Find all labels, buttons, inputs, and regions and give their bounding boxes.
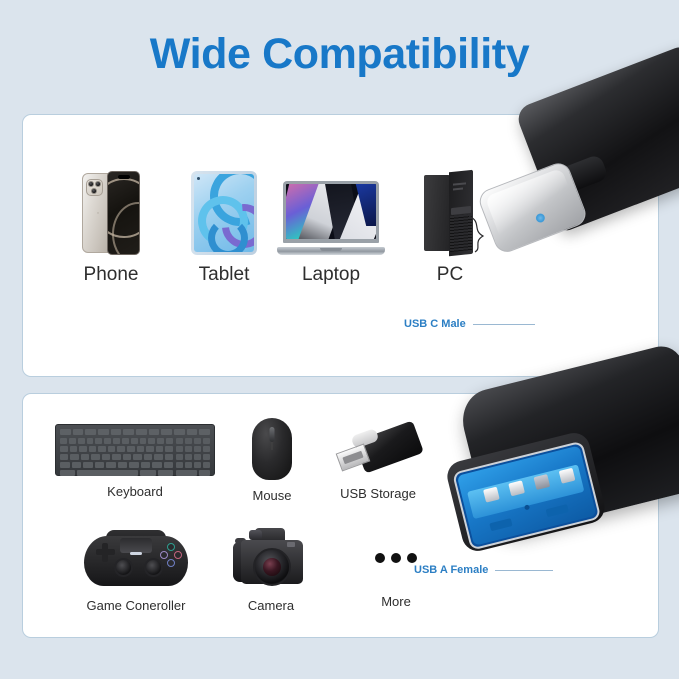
camera-icon	[233, 526, 309, 590]
device-usb-storage: USB Storage	[323, 422, 433, 501]
device-label: Camera	[211, 598, 331, 613]
laptop-icon	[277, 181, 385, 255]
device-phone: Phone	[51, 171, 171, 286]
device-label: Keyboard	[45, 484, 225, 499]
device-keyboard: Keyboard	[45, 424, 225, 499]
device-label: USB Storage	[323, 486, 433, 501]
callout-label: USB A Female	[414, 564, 488, 576]
leader-line	[473, 324, 535, 325]
power-cable-icon	[468, 215, 488, 253]
leader-line	[495, 570, 553, 571]
callout-usb-a-female: USB A Female	[414, 564, 553, 576]
smartphone-icon	[82, 171, 140, 255]
device-label: Game Coneroller	[60, 598, 212, 613]
device-pc: PC	[395, 171, 505, 286]
device-game-controller: Game Coneroller	[60, 528, 212, 613]
gamepad-icon	[84, 528, 188, 590]
device-label: Phone	[51, 264, 171, 286]
device-laptop: Laptop	[261, 181, 401, 286]
device-label: Laptop	[261, 264, 401, 286]
desktop-tower-icon	[412, 171, 488, 255]
panel-compatible-host-devices: Phone Tablet Laptop	[22, 114, 659, 377]
callout-usb-c-male: USB C Male	[404, 318, 535, 330]
mouse-icon	[252, 418, 292, 480]
device-mouse: Mouse	[219, 418, 325, 503]
callout-label: USB C Male	[404, 318, 466, 330]
keyboard-icon	[55, 424, 215, 476]
page-title: Wide Compatibility	[0, 30, 679, 79]
tablet-icon	[191, 171, 257, 255]
panel-compatible-peripherals: Keyboard Mouse USB Storage	[22, 393, 659, 638]
device-camera: Camera	[211, 526, 331, 613]
device-label: More	[341, 594, 451, 609]
device-label: Mouse	[219, 488, 325, 503]
device-label: PC	[395, 264, 505, 286]
usb-flash-drive-icon	[336, 422, 420, 478]
